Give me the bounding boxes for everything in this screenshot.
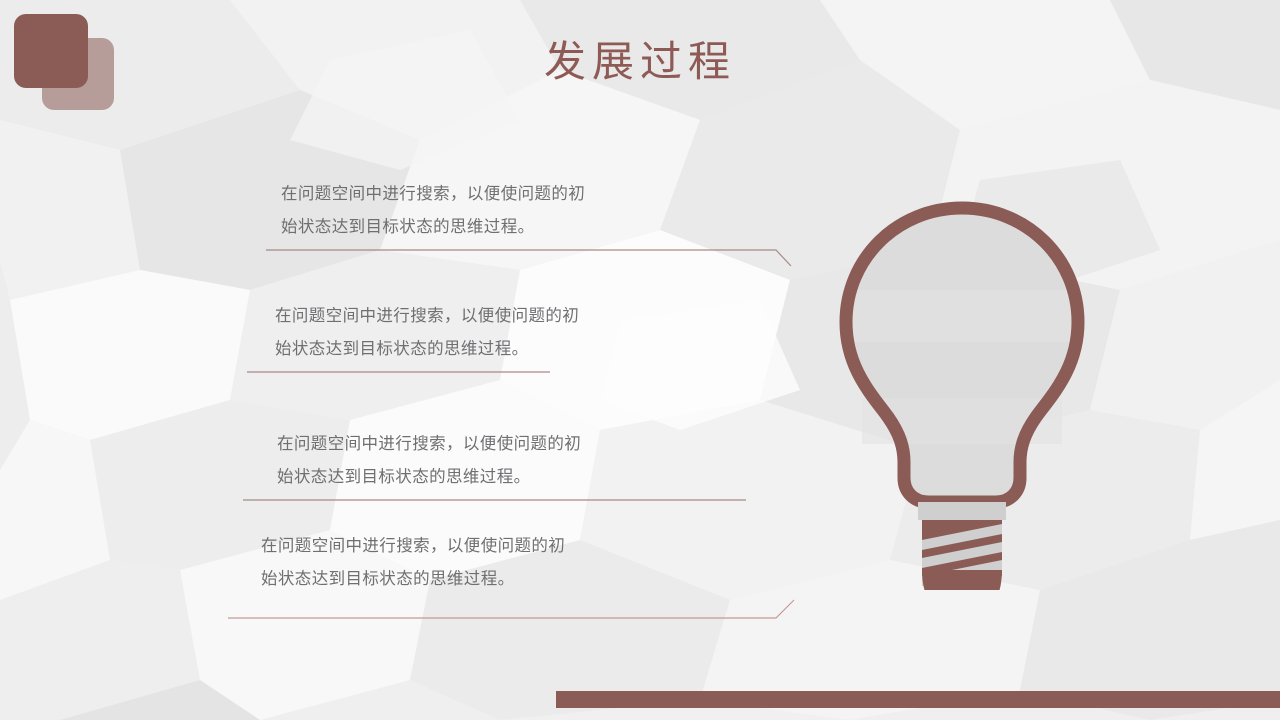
content-block-4: 在问题空间中进行搜索，以便使问题的初 始状态达到目标状态的思维过程。 — [228, 530, 788, 596]
bottom-accent-bar — [556, 691, 1280, 708]
content-block-1: 在问题空间中进行搜索，以便使问题的初 始状态达到目标状态的思维过程。 — [266, 178, 826, 244]
content-block-4-rule — [228, 596, 788, 610]
content-block-3-text: 在问题空间中进行搜索，以便使问题的初 始状态达到目标状态的思维过程。 — [243, 428, 803, 494]
light-bulb-icon — [822, 190, 1102, 590]
content-block-1-rule — [266, 244, 826, 258]
content-block-1-text: 在问题空间中进行搜索，以便使问题的初 始状态达到目标状态的思维过程。 — [266, 178, 826, 244]
content-block-3: 在问题空间中进行搜索，以便使问题的初 始状态达到目标状态的思维过程。 — [243, 428, 803, 494]
slide-canvas: 发展过程 在问题空间中进行搜索，以便使问题的初 始状态达到目标状态的思维过程。 … — [0, 0, 1280, 720]
content-block-2-text: 在问题空间中进行搜索，以便使问题的初 始状态达到目标状态的思维过程。 — [247, 300, 807, 366]
content-block-2-rule — [247, 366, 807, 380]
content-block-3-rule — [243, 494, 803, 508]
content-blocks: 在问题空间中进行搜索，以便使问题的初 始状态达到目标状态的思维过程。 在问题空间… — [0, 0, 760, 720]
content-block-4-text: 在问题空间中进行搜索，以便使问题的初 始状态达到目标状态的思维过程。 — [228, 530, 788, 596]
content-block-2: 在问题空间中进行搜索，以便使问题的初 始状态达到目标状态的思维过程。 — [247, 300, 807, 366]
